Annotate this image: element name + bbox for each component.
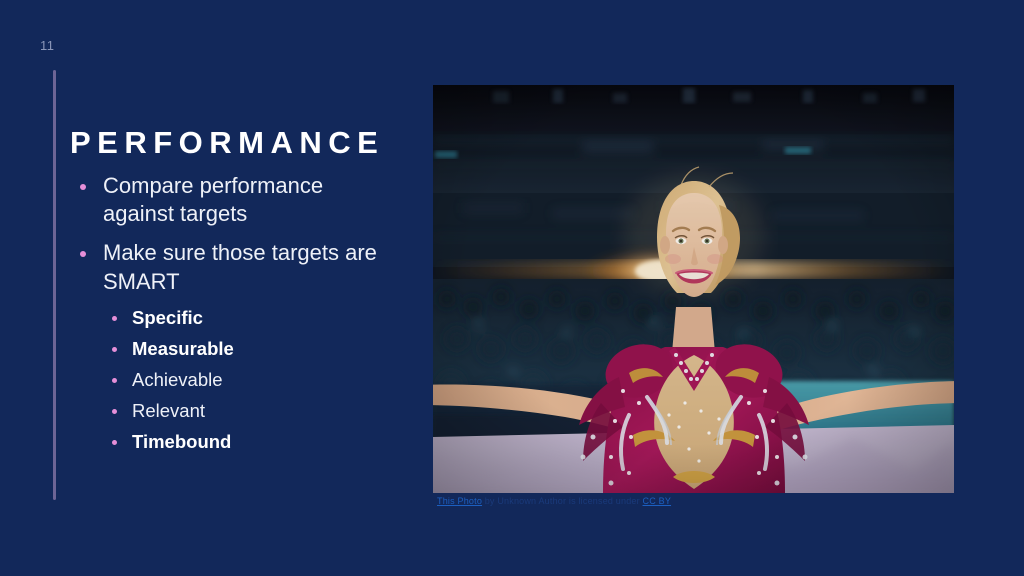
bullet-dot-icon bbox=[112, 316, 117, 321]
smart-item-label: Specific bbox=[132, 307, 203, 328]
photo-caption: This Photo by Unknown Author is licensed… bbox=[437, 496, 671, 506]
bullet-dot-icon bbox=[112, 440, 117, 445]
caption-link-this-photo[interactable]: This Photo bbox=[437, 496, 482, 506]
slide: 11 PERFORMANCE Compare performance again… bbox=[0, 0, 1024, 576]
list-item: Compare performance against targets bbox=[70, 172, 400, 228]
bullet-dot-icon bbox=[112, 378, 117, 383]
caption-middle-text: by Unknown Author is licensed under bbox=[482, 496, 643, 506]
bullet-dot-icon bbox=[112, 409, 117, 414]
list-item: Specific bbox=[103, 302, 400, 333]
photo-container bbox=[433, 85, 954, 493]
list-item: Make sure those targets are SMART Specif… bbox=[70, 239, 400, 457]
list-item: Relevant bbox=[103, 395, 400, 426]
smart-sublist: Specific Measurable Achievable Relevant bbox=[103, 302, 400, 457]
bullet-text: Compare performance against targets bbox=[103, 172, 400, 228]
page-title: PERFORMANCE bbox=[70, 126, 400, 160]
list-item: Achievable bbox=[103, 364, 400, 395]
bullet-text: Make sure those targets are SMART bbox=[103, 239, 400, 295]
list-item: Timebound bbox=[103, 426, 400, 457]
smart-item-label: Relevant bbox=[132, 400, 205, 421]
skater-photo bbox=[433, 85, 954, 493]
accent-rule bbox=[53, 70, 56, 500]
caption-link-cc-by[interactable]: CC BY bbox=[643, 496, 672, 506]
bullet-dot-icon bbox=[80, 251, 86, 257]
bullet-dot-icon bbox=[80, 184, 86, 190]
list-item: Measurable bbox=[103, 333, 400, 364]
skater-photo-artwork bbox=[433, 85, 954, 493]
page-number: 11 bbox=[40, 38, 55, 53]
smart-item-label: Measurable bbox=[132, 338, 234, 359]
smart-item-label: Timebound bbox=[132, 431, 231, 452]
bullet-list: Compare performance against targets Make… bbox=[70, 172, 400, 457]
smart-item-label: Achievable bbox=[132, 369, 223, 390]
bullet-dot-icon bbox=[112, 347, 117, 352]
text-column: PERFORMANCE Compare performance against … bbox=[70, 126, 400, 468]
